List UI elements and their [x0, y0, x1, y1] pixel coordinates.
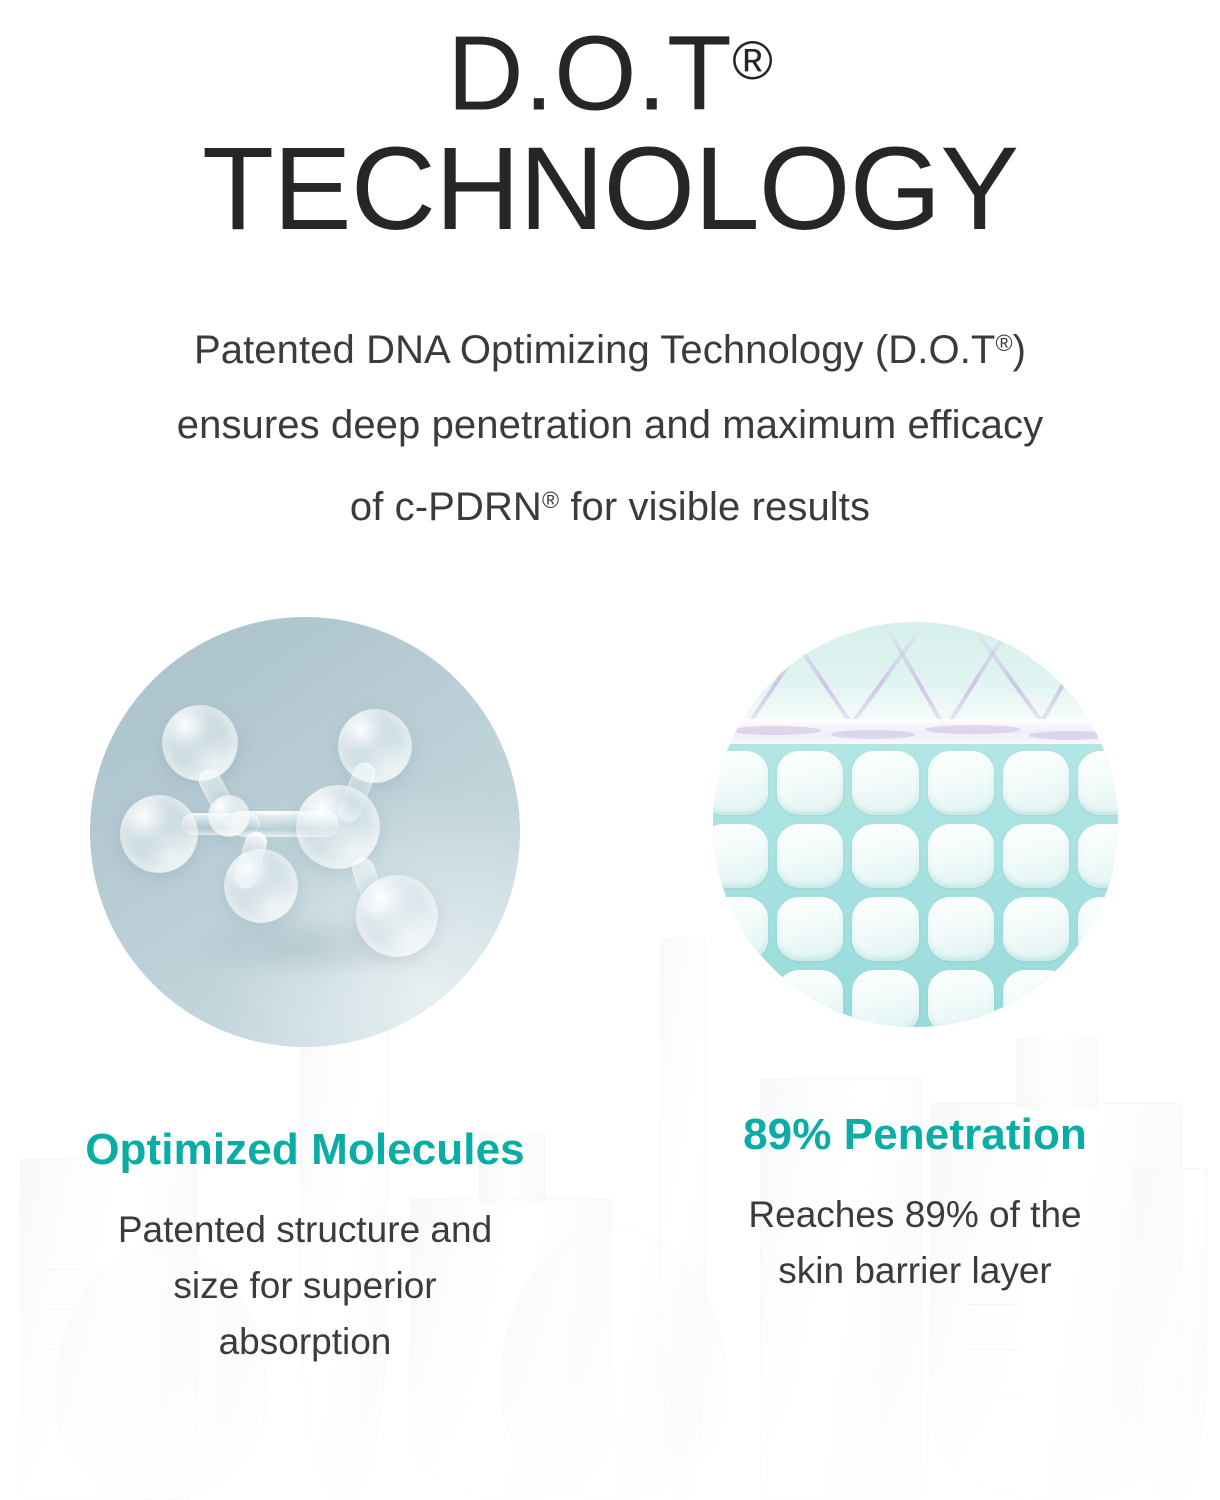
molecule-atom-core [296, 785, 380, 869]
page-title-line-2: TECHNOLOGY [0, 129, 1220, 249]
feature-column-penetration: 89% Penetration Reaches 89% of the skin … [610, 600, 1220, 1299]
surface-wave-segment [729, 726, 821, 735]
feature-column-optimized-molecules: Optimized Molecules Patented structure a… [0, 600, 610, 1370]
page-title-main: D.O.T [447, 14, 732, 132]
skin-cell [1078, 824, 1117, 888]
page-header: D.O.T® TECHNOLOGY [0, 0, 1220, 249]
subtitle-line-1: Patented DNA Optimizing Technology (D.O.… [0, 306, 1220, 388]
skin-surface-layer [713, 622, 1118, 731]
molecule-atom-hub [208, 795, 250, 837]
skin-cell [928, 897, 994, 961]
page-subtitle: Patented DNA Optimizing Technology (D.O.… [0, 306, 1220, 545]
subtitle-line-3-text: of c-PDRN [350, 485, 542, 529]
feature-body-penetration: Reaches 89% of the skin barrier layer [610, 1161, 1220, 1299]
registered-trademark-icon: ® [732, 29, 773, 91]
skin-cell [777, 824, 843, 888]
skin-cell [1078, 751, 1117, 815]
surface-wave-segment [1029, 731, 1109, 740]
molecule-atom-top-left [162, 705, 238, 781]
molecule-atom-left [120, 795, 198, 873]
skin-cell [928, 824, 994, 888]
skin-cell [777, 897, 843, 961]
skin-cell [713, 824, 768, 888]
skin-cell [928, 970, 994, 1028]
skin-cell [1003, 751, 1069, 815]
page-title-line-1: D.O.T® [0, 0, 1220, 129]
skin-cell [713, 751, 768, 815]
skin-cell [777, 751, 843, 815]
dna-strand-icon [881, 622, 958, 731]
skin-cell [928, 751, 994, 815]
skin-cell [852, 824, 918, 888]
skin-cell [713, 970, 768, 1028]
skin-cell-grid [713, 744, 1118, 1028]
skin-cell [852, 751, 918, 815]
molecule-atom-bottom-right [356, 875, 438, 957]
skin-barrier-penetration-illustration [713, 622, 1118, 1027]
molecule-atom-bottom [224, 849, 298, 923]
feature-columns: Optimized Molecules Patented structure a… [0, 600, 1220, 1360]
surface-wave-segment [831, 730, 915, 739]
registered-trademark-icon: ® [542, 487, 559, 513]
skin-cell [1003, 897, 1069, 961]
subtitle-line-1-text: Patented DNA Optimizing Technology (D.O.… [194, 328, 996, 372]
dna-strand-icon [732, 623, 818, 732]
skin-cell [1078, 970, 1117, 1028]
molecule-atom-top-right [338, 709, 412, 783]
skin-cell [1003, 970, 1069, 1028]
feature-heading-penetration: 89% Penetration [610, 1109, 1220, 1161]
subtitle-line-1-close: ) [1013, 328, 1026, 372]
subtitle-line-2: ensures deep penetration and maximum eff… [0, 388, 1220, 463]
feature-body-optimized-molecules: Patented structure and size for superior… [0, 1176, 610, 1370]
feature-heading-optimized-molecules: Optimized Molecules [0, 1124, 610, 1176]
skin-cell [852, 897, 918, 961]
dna-strand-icon [932, 622, 1014, 731]
skin-cell [1003, 824, 1069, 888]
surface-wave-segment [925, 725, 1021, 734]
subtitle-line-3-tail: for visible results [559, 485, 870, 529]
skin-cell [852, 970, 918, 1028]
subtitle-line-3: of c-PDRN® for visible results [0, 463, 1220, 545]
skin-cell [1078, 897, 1117, 961]
optimized-molecule-illustration [90, 617, 520, 1047]
skin-cell [713, 897, 768, 961]
registered-trademark-icon: ® [995, 330, 1012, 356]
skin-cell [777, 970, 843, 1028]
